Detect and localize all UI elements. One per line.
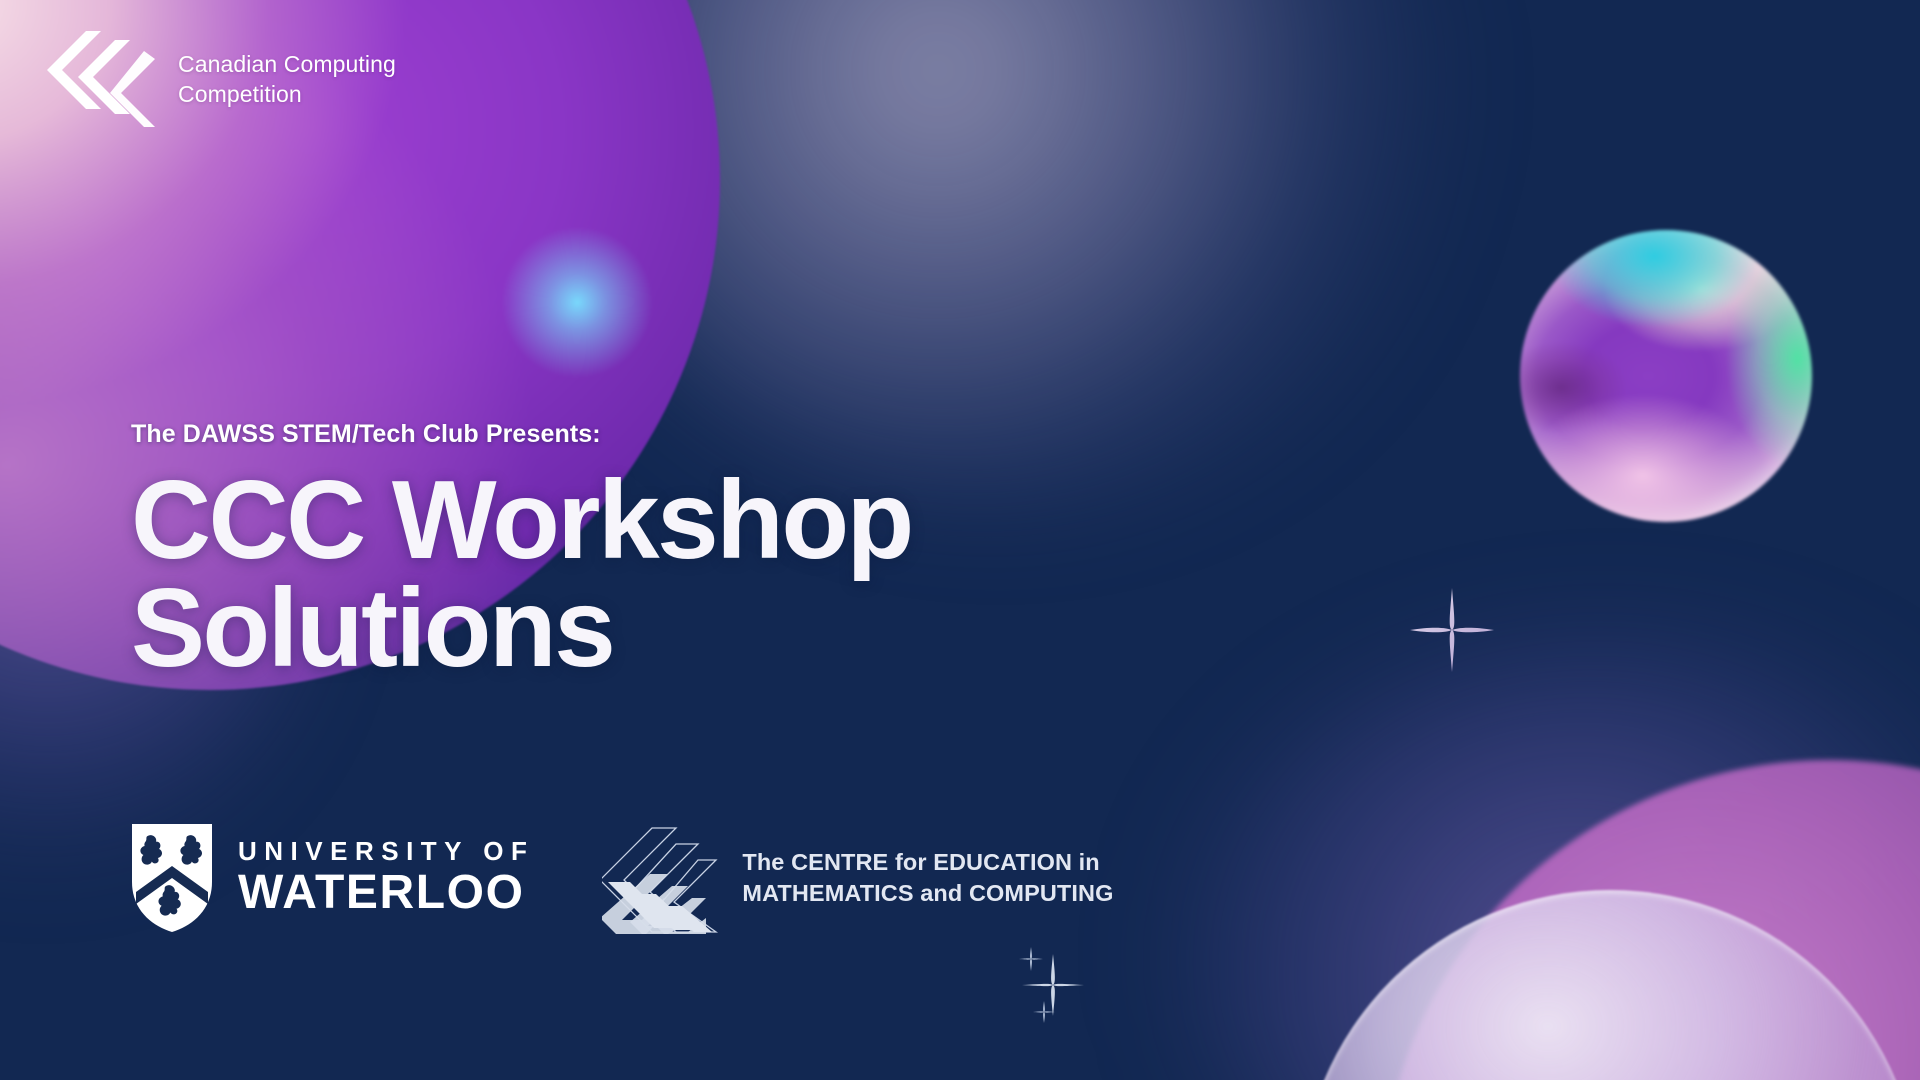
ccc-logo-text: Canadian Computing Competition (178, 50, 396, 110)
sparkle-large-right-icon (1406, 584, 1498, 676)
ccc-chevron-diamond-icon (40, 28, 164, 132)
headline-block: The DAWSS STEM/Tech Club Presents: CCC W… (131, 420, 1191, 682)
canadian-computing-competition-logo: Canadian Computing Competition (40, 28, 396, 132)
sparkle-medium-bottom-icon (1020, 952, 1086, 1018)
waterloo-wordmark: UNIVERSITY OF WATERLOO (238, 837, 534, 918)
university-of-waterloo-logo: UNIVERSITY OF WATERLOO (128, 822, 534, 934)
cemc-logo: The CENTRE for EDUCATION in MATHEMATICS … (602, 822, 1113, 934)
sparkle-small-lower-icon (1032, 1000, 1056, 1024)
eyebrow-text: The DAWSS STEM/Tech Club Presents: (131, 420, 1191, 449)
iridescent-bubble-sphere (1520, 230, 1812, 522)
footer-logo-row: UNIVERSITY OF WATERLOO (128, 822, 1113, 934)
cemc-chevron-icon (602, 822, 720, 934)
waterloo-line1: UNIVERSITY OF (238, 837, 534, 866)
presentation-slide: Canadian Computing Competition The DAWSS… (0, 0, 1920, 1080)
page-title: CCC Workshop Solutions (131, 467, 1191, 682)
waterloo-shield-icon (128, 822, 216, 934)
cemc-text: The CENTRE for EDUCATION in MATHEMATICS … (742, 847, 1113, 908)
waterloo-line2: WATERLOO (238, 868, 534, 919)
sparkle-small-upper-icon (1018, 946, 1044, 972)
